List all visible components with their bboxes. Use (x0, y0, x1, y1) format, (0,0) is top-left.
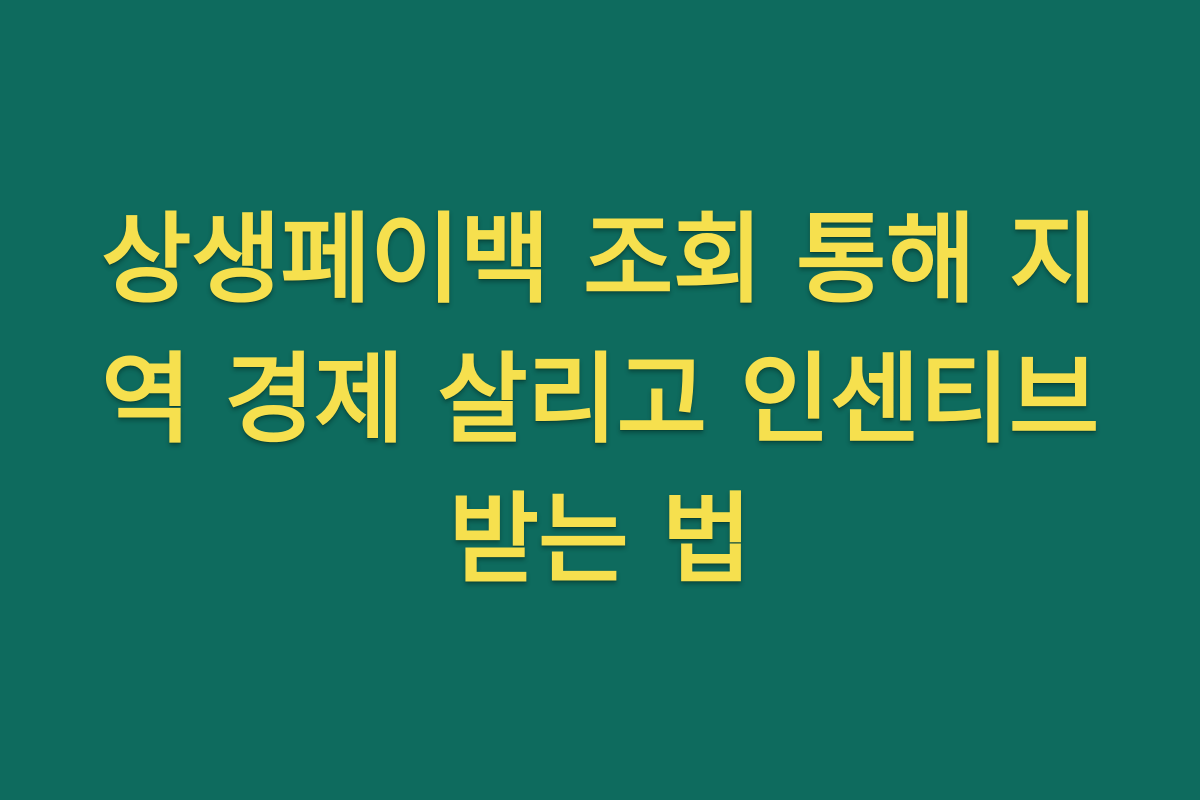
page-title: 상생페이백 조회 통해 지 역 경제 살리고 인센티브 받는 법 (90, 190, 1110, 610)
headline-line-2: 역 경제 살리고 인센티브 (90, 330, 1110, 470)
headline-line-1: 상생페이백 조회 통해 지 (90, 190, 1110, 330)
headline-container: 상생페이백 조회 통해 지 역 경제 살리고 인센티브 받는 법 (80, 190, 1120, 610)
headline-banner: 상생페이백 조회 통해 지 역 경제 살리고 인센티브 받는 법 (0, 0, 1200, 800)
headline-line-3: 받는 법 (90, 470, 1110, 610)
